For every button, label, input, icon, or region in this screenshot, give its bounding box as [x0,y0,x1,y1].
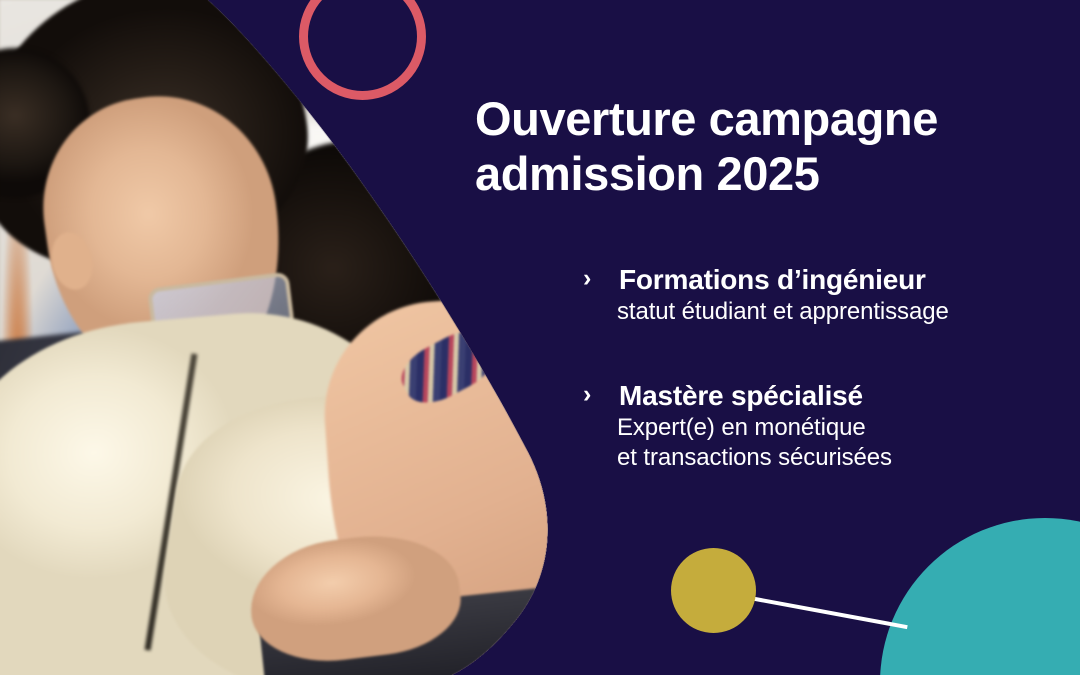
program-subtitle-line-1: Expert(e) en monétique [617,413,1080,443]
program-title: Formations d’ingénieur [619,263,1080,297]
chevron-right-icon: › [583,382,591,407]
banner-content: Ouverture campagne admission 2025 › Form… [470,0,1080,675]
program-title: Mastère spécialisé [619,379,1080,413]
program-list: › Formations d’ingénieur statut étudiant… [583,263,1080,472]
chevron-right-icon: › [583,266,591,291]
admission-campaign-banner: Ouverture campagne admission 2025 › Form… [0,0,1080,675]
program-item-engineering: › Formations d’ingénieur statut étudiant… [583,263,1080,326]
program-subtitle: statut étudiant et apprentissage [617,297,1080,327]
program-item-specialized-master: › Mastère spécialisé Expert(e) en monéti… [583,379,1080,472]
program-subtitle-line-2: et transactions sécurisées [617,443,1080,473]
page-title: Ouverture campagne admission 2025 [475,92,1055,202]
coral-ring-decoration [299,0,426,100]
